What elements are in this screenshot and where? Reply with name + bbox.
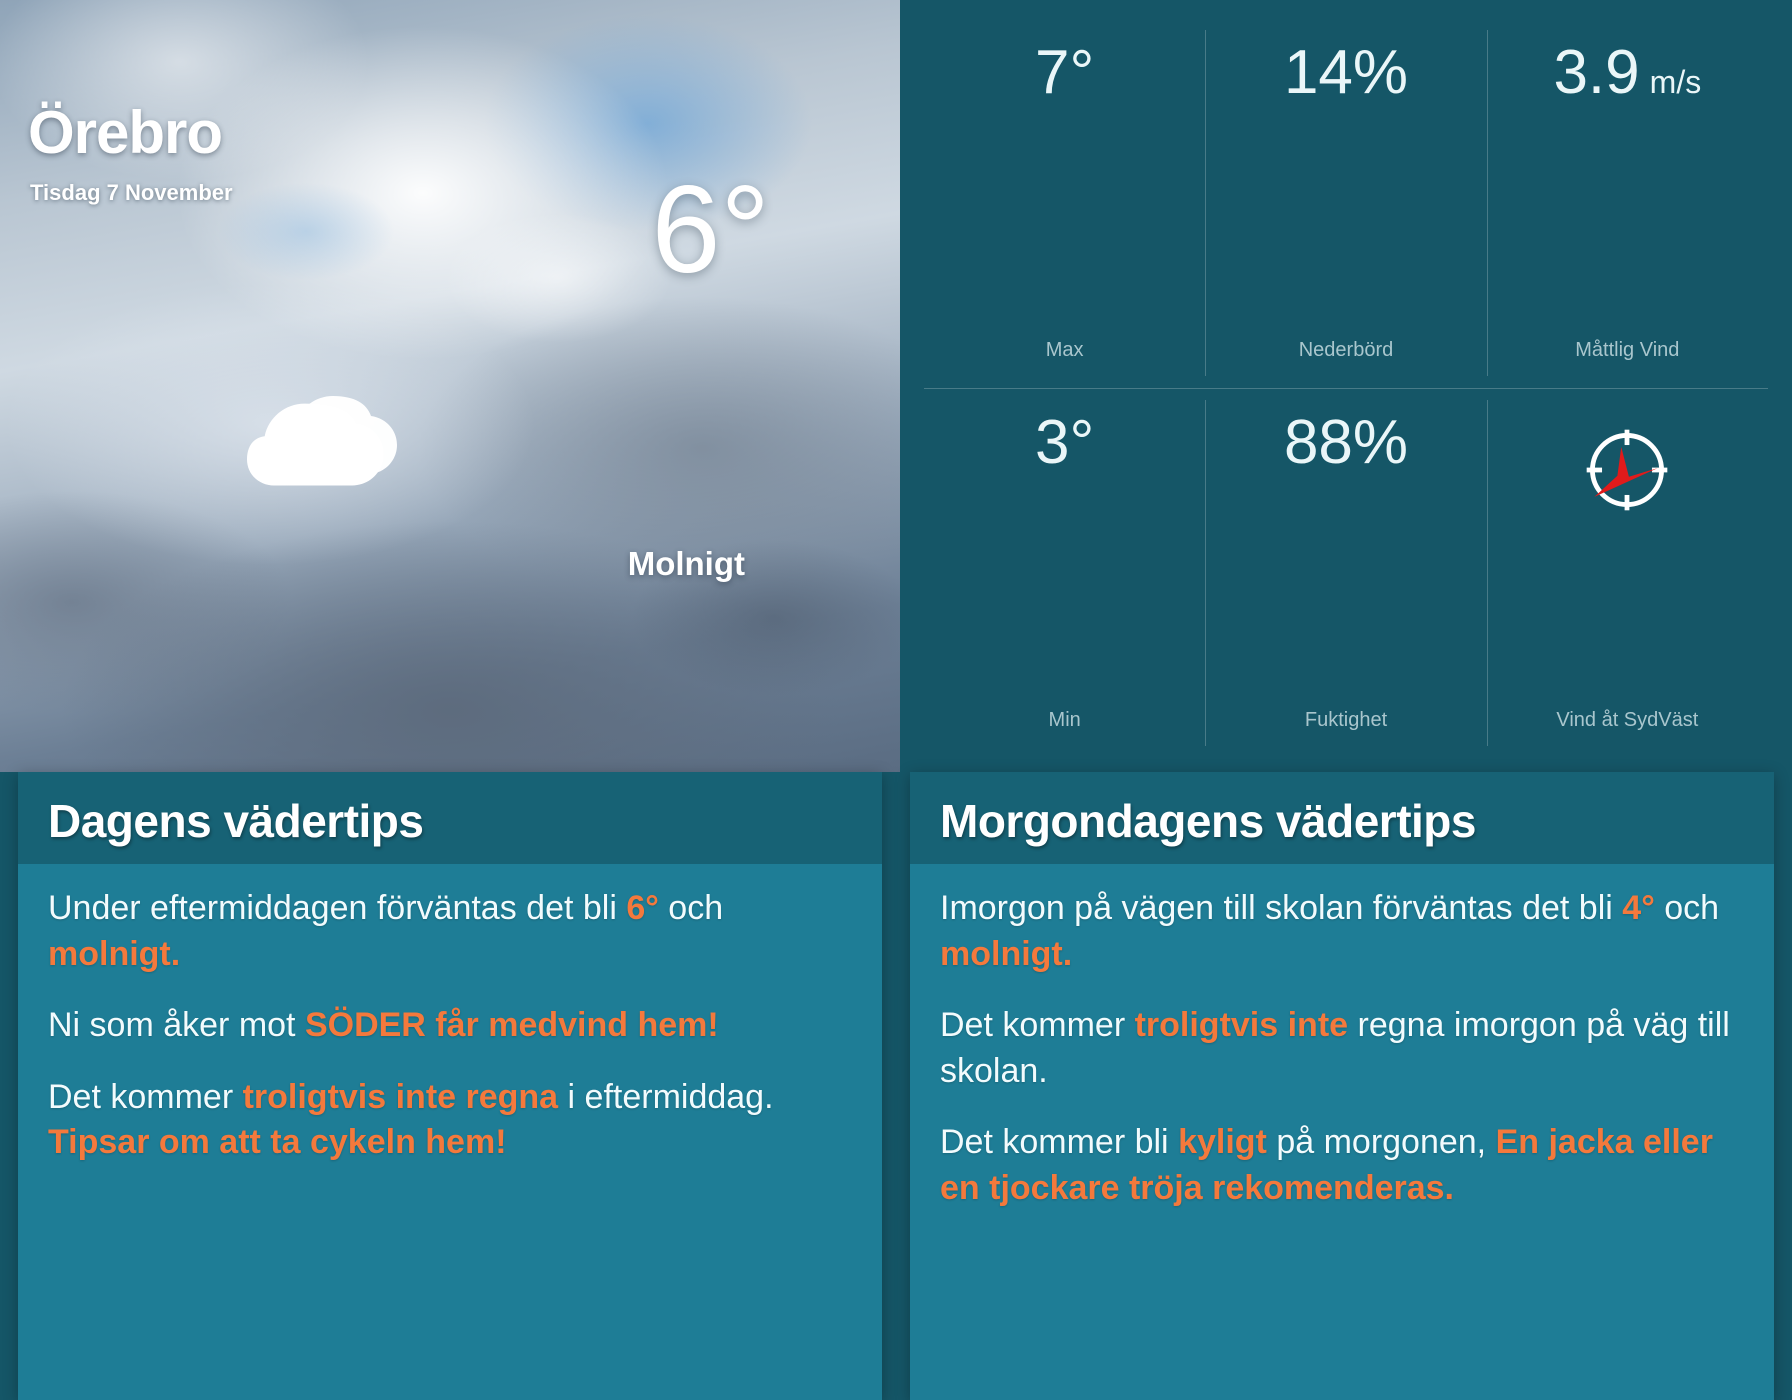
stat-max-value: 7° (1035, 40, 1094, 105)
stat-wind-speed-value: 3.9 m/s (1553, 40, 1701, 105)
weather-condition-label: Molnigt (628, 545, 745, 583)
stat-min-label: Min (924, 709, 1205, 732)
tomorrow-tips-header: Morgondagens vädertips (910, 772, 1774, 864)
stat-wind-speed-unit: m/s (1650, 66, 1702, 100)
stat-max: 7° Max (924, 18, 1205, 388)
current-date: Tisdag 7 November (30, 180, 233, 206)
today-tips-card: Dagens vädertips Under eftermiddagen för… (18, 772, 882, 1400)
stat-wind-speed-label: Måttlig Vind (1487, 339, 1768, 362)
cloudy-icon (225, 360, 425, 510)
weather-dashboard: Örebro Tisdag 7 November 6° Molnigt 7° M… (0, 0, 1792, 1400)
stat-wind-speed-number: 3.9 (1553, 40, 1639, 105)
today-tip-3-highlight-advice: Tipsar om att ta cykeln hem! (48, 1123, 507, 1161)
tomorrow-tips-body: Imorgon på vägen till skolan förväntas d… (910, 864, 1774, 1400)
stat-humidity-value: 88% (1284, 410, 1408, 475)
stat-wind-direction-label: Vind åt SydVäst (1487, 709, 1768, 732)
stat-min: 3° Min (924, 388, 1205, 758)
tomorrow-tip-paragraph-1: Imorgon på vägen till skolan förväntas d… (940, 886, 1744, 977)
tomorrow-tip-1-text-c: och (1655, 889, 1719, 927)
stat-max-label: Max (924, 339, 1205, 362)
compass-icon (1579, 422, 1675, 518)
stat-wind-speed: 3.9 m/s Måttlig Vind (1487, 18, 1768, 388)
today-tip-paragraph-2: Ni som åker mot SÖDER får medvind hem! (48, 1003, 852, 1049)
today-tip-paragraph-3: Det kommer troligtvis inte regna i efter… (48, 1075, 852, 1166)
today-tip-1-text-c: och (659, 889, 723, 927)
today-tip-3-text-a: Det kommer (48, 1078, 243, 1116)
hero-panel: Örebro Tisdag 7 November 6° Molnigt (0, 0, 900, 772)
tomorrow-tip-1-highlight-condition: molnigt. (940, 935, 1072, 973)
today-tip-2-text-a: Ni som åker mot (48, 1006, 305, 1044)
current-temperature: 6° (651, 168, 770, 292)
tomorrow-tip-2-highlight: troligtvis inte (1135, 1006, 1348, 1044)
stat-min-value: 3° (1035, 410, 1094, 475)
stat-precipitation-value: 14% (1284, 40, 1408, 105)
stat-humidity-label: Fuktighet (1205, 709, 1486, 732)
tips-cards-row: Dagens vädertips Under eftermiddagen för… (0, 772, 1792, 1400)
today-tips-title: Dagens vädertips (48, 794, 852, 848)
today-tip-1-highlight-condition: molnigt. (48, 935, 180, 973)
tomorrow-tip-2-text-a: Det kommer (940, 1006, 1135, 1044)
today-tips-header: Dagens vädertips (18, 772, 882, 864)
tomorrow-tip-1-text-a: Imorgon på vägen till skolan förväntas d… (940, 889, 1622, 927)
today-tip-paragraph-1: Under eftermiddagen förväntas det bli 6°… (48, 886, 852, 977)
tomorrow-tip-3-highlight-cold: kyligt (1178, 1123, 1267, 1161)
today-tip-2-highlight: SÖDER får medvind hem! (305, 1006, 719, 1044)
tomorrow-tip-1-highlight-temp: 4° (1622, 889, 1655, 927)
today-tip-3-highlight-rain: troligtvis inte regna (243, 1078, 559, 1116)
stat-precipitation-label: Nederbörd (1205, 339, 1486, 362)
tomorrow-tip-3-text-c: på morgonen, (1267, 1123, 1496, 1161)
tomorrow-tip-3-text-a: Det kommer bli (940, 1123, 1178, 1161)
city-name: Örebro (28, 98, 222, 167)
today-tips-body: Under eftermiddagen förväntas det bli 6°… (18, 864, 882, 1400)
tomorrow-tips-card: Morgondagens vädertips Imorgon på vägen … (910, 772, 1774, 1400)
tomorrow-tip-paragraph-3: Det kommer bli kyligt på morgonen, En ja… (940, 1120, 1744, 1211)
stat-humidity: 88% Fuktighet (1205, 388, 1486, 758)
stat-precipitation: 14% Nederbörd (1205, 18, 1486, 388)
today-tip-1-highlight-temp: 6° (626, 889, 659, 927)
today-tip-1-text-a: Under eftermiddagen förväntas det bli (48, 889, 626, 927)
tomorrow-tips-title: Morgondagens vädertips (940, 794, 1744, 848)
today-tip-3-text-c: i eftermiddag. (558, 1078, 773, 1116)
top-section: Örebro Tisdag 7 November 6° Molnigt 7° M… (0, 0, 1792, 772)
stats-grid: 7° Max 14% Nederbörd 3.9 m/s Måttlig Vin… (900, 0, 1792, 772)
stat-wind-direction: Vind åt SydVäst (1487, 388, 1768, 758)
tomorrow-tip-paragraph-2: Det kommer troligtvis inte regna imorgon… (940, 1003, 1744, 1094)
